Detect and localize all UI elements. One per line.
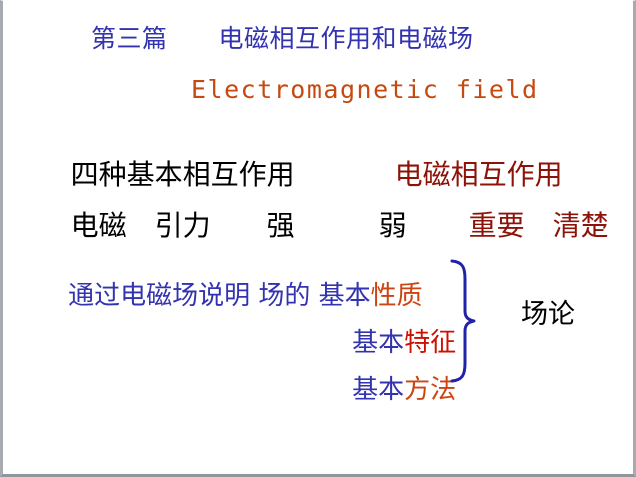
field-block-line-3-blue: 基本 <box>352 375 404 405</box>
slide-title: 第三篇 电磁相互作用和电磁场 <box>91 26 474 51</box>
slide-canvas: 第三篇 电磁相互作用和电磁场 Electromagnetic field 四种基… <box>0 0 636 477</box>
interactions-list-row: 电磁 引力 强 弱重要 清楚 <box>35 184 609 268</box>
interactions-list-black: 电磁 引力 强 弱 <box>71 209 407 242</box>
interactions-list-red: 重要 清楚 <box>469 209 609 242</box>
right-curly-brace-icon <box>449 259 477 383</box>
field-theory-summary-label: 场论 <box>521 301 575 328</box>
field-block-line-3: 基本方法 <box>319 351 456 429</box>
slide-subtitle: Electromagnetic field <box>191 77 539 102</box>
